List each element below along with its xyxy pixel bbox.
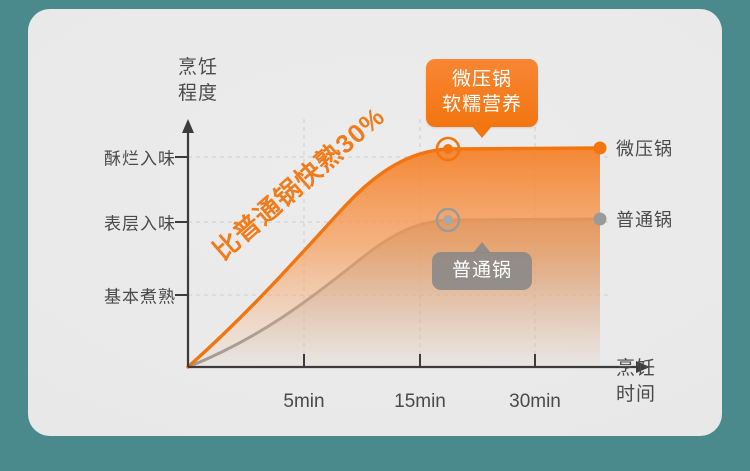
legend-dot-ordinary	[594, 213, 607, 226]
series-micro-pressure-pot	[188, 148, 600, 367]
legend-item-micro-pressure-pot[interactable]: 微压锅	[616, 135, 673, 161]
callout-orange-line1: 微压锅	[426, 67, 538, 92]
y-axis-title-line1: 烹饪	[158, 55, 238, 81]
y-axis-title: 烹饪 程度	[158, 55, 238, 107]
x-axis-title-line2: 时间	[616, 382, 696, 408]
infographic-canvas: 烹饪 程度 烹饪 时间 酥烂入味 表层入味 基本煮熟 5min 15min 30…	[0, 0, 750, 471]
callout-gray-line1: 普通锅	[432, 258, 532, 283]
y-axis-title-line2: 程度	[158, 81, 238, 107]
y-tick-label-biaoceng: 表层入味	[104, 210, 176, 235]
chart-card: 烹饪 程度 烹饪 时间 酥烂入味 表层入味 基本煮熟 5min 15min 30…	[28, 9, 722, 436]
legend-dot-micro-pressure	[594, 142, 607, 155]
callout-micro-pressure-pot[interactable]: 微压锅 软糯营养	[426, 59, 538, 127]
x-axis-title: 烹饪 时间	[616, 356, 696, 408]
x-tick-label-30min: 30min	[509, 391, 561, 413]
y-axis-ticks	[175, 157, 188, 295]
y-tick-label-jiben: 基本煮熟	[104, 283, 176, 308]
x-tick-label-15min: 15min	[394, 391, 446, 413]
legend-item-ordinary-pot[interactable]: 普通锅	[616, 206, 673, 232]
callout-orange-line2: 软糯营养	[426, 92, 538, 117]
y-tick-label-rulan: 酥烂入味	[104, 145, 176, 170]
callout-tail-up-icon	[473, 242, 491, 253]
arrow-up-icon	[182, 119, 194, 133]
x-tick-label-5min: 5min	[283, 391, 324, 413]
x-axis-title-line1: 烹饪	[616, 356, 696, 382]
callout-tail-down-icon	[472, 126, 492, 138]
callout-ordinary-pot[interactable]: 普通锅	[432, 252, 532, 290]
